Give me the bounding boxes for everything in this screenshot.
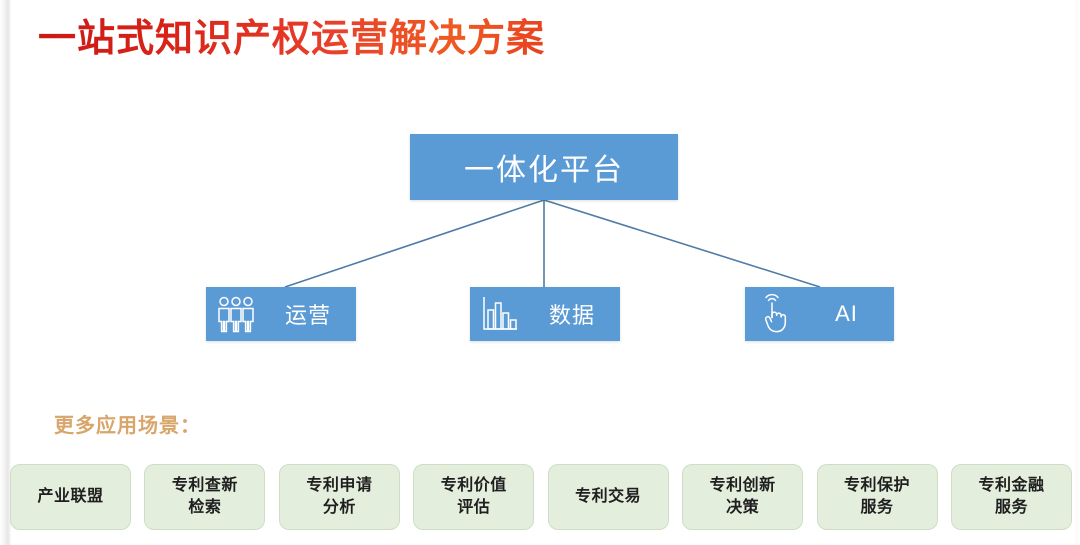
scenario-pill[interactable]: 专利查新 检索 [144,464,265,530]
scenario-pill[interactable]: 专利金融 服务 [951,464,1072,530]
scenario-pill-line1: 专利创新 [710,475,776,497]
node-platform-label: 一体化平台 [464,145,624,189]
scenario-pill[interactable]: 专利申请 分析 [279,464,400,530]
slide-canvas: 一站式知识产权运营解决方案 一体化平台 运营 [0,0,1080,545]
more-scenarios-label: 更多应用场景： [54,409,201,438]
bar-chart-icon [480,293,520,335]
node-operations-label: 运营 [268,298,356,330]
scenario-pill-line2: 评估 [441,497,507,519]
scenario-pill-line2: 决策 [710,497,776,519]
node-ai-label: AI [807,301,894,327]
connector-to-ai [544,200,820,287]
connector-to-operations [285,200,544,287]
scenario-pill-line1: 产业联盟 [37,486,103,508]
scenario-pill[interactable]: 专利创新 决策 [682,464,803,530]
touch-gesture-icon [755,293,795,335]
node-ai[interactable]: AI [745,287,894,341]
scenario-pill[interactable]: 专利保护 服务 [817,464,938,530]
scenario-pill-line1: 专利价值 [441,475,507,497]
scenario-pill-line2: 服务 [844,497,910,519]
architecture-diagram: 一体化平台 运营 数据 [0,100,1080,370]
node-data-label: 数据 [532,298,620,330]
three-people-icon [216,293,256,335]
scenario-pill[interactable]: 专利交易 [548,464,669,530]
scenario-pill-line1: 专利交易 [575,486,641,508]
scenario-pill-line1: 专利保护 [844,475,910,497]
node-data[interactable]: 数据 [470,287,620,341]
scenario-pill[interactable]: 专利价值 评估 [413,464,534,530]
page-title: 一站式知识产权运营解决方案 [38,16,545,62]
scenario-pill-line1: 专利查新 [172,475,238,497]
scenario-pill-line1: 专利申请 [306,475,372,497]
scenario-pill-line2: 服务 [978,497,1044,519]
scenario-pill-line2: 分析 [306,497,372,519]
node-platform[interactable]: 一体化平台 [410,134,678,200]
scenario-pill-line2: 检索 [172,497,238,519]
scenario-pill-row: 产业联盟 专利查新 检索 专利申请 分析 专利价值 评估 专利交易 [10,464,1072,530]
node-operations[interactable]: 运营 [206,287,356,341]
scenario-pill-line1: 专利金融 [978,475,1044,497]
scenario-pill[interactable]: 产业联盟 [10,464,131,530]
